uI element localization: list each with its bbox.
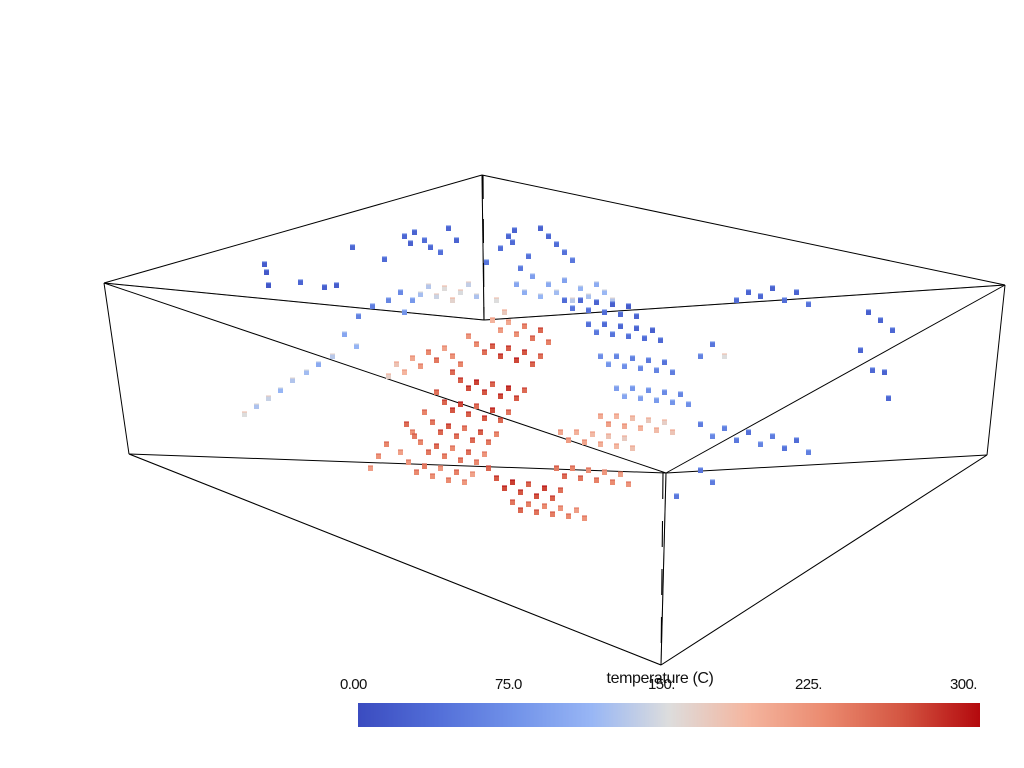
scatter-point [670,370,675,375]
glyph-highlight [606,361,611,363]
glyph-highlight [438,465,443,467]
glyph-highlight [458,377,463,379]
glyph-highlight [498,393,503,395]
glyph-highlight [618,471,623,473]
glyph-highlight [430,419,435,421]
scatter-point [466,412,471,417]
scatter-point [646,418,651,423]
scatter-point [438,430,443,435]
glyph-highlight [462,479,467,481]
scatter-point [562,298,567,303]
glyph-highlight [626,303,631,305]
scatter-point [550,512,555,517]
scatter-point [386,374,391,379]
glyph-highlight [482,451,487,453]
glyph-highlight [522,323,527,325]
glyph-highlight [770,433,775,435]
glyph-highlight [670,369,675,371]
scatter-point [722,354,727,359]
scatter-point [526,502,531,507]
colorbar[interactable] [358,703,980,727]
scatter-point [384,442,389,447]
scatter-point [450,408,455,413]
glyph-highlight [442,345,447,347]
glyph-highlight [634,325,639,327]
scatter-point [334,283,339,288]
scatter-point [458,290,463,295]
glyph-highlight [430,473,435,475]
scatter-point [594,300,599,305]
glyph-highlight [382,256,387,258]
scatter-point [522,350,527,355]
scatter-point [404,422,409,427]
glyph-highlight [586,293,591,295]
glyph-highlight [570,465,575,467]
scatter-point [438,250,443,255]
glyph-highlight [538,327,543,329]
scatter-point [562,250,567,255]
scatter-point [746,290,751,295]
glyph-highlight [386,297,391,299]
colorbar-tick-0: 0.00 [340,676,367,693]
scatter-point [650,328,655,333]
glyph-highlight [662,359,667,361]
scatter-point [490,344,495,349]
glyph-highlight [562,297,567,299]
scatter-point [638,396,643,401]
scatter-point [570,258,575,263]
scatter-point [402,234,407,239]
glyph-highlight [454,469,459,471]
scatter-point [530,336,535,341]
glyph-highlight [506,385,511,387]
glyph-highlight [402,309,407,311]
scatter-point [538,226,543,231]
glyph-highlight [522,289,527,291]
glyph-highlight [502,309,507,311]
scatter-point [470,472,475,477]
scatter-point [622,424,627,429]
glyph-highlight [442,285,447,287]
scatter-point [510,480,515,485]
scatter-point [466,386,471,391]
scatter-point [506,320,511,325]
glyph-highlight [674,493,679,495]
glyph-highlight [554,289,559,291]
scatter-point [446,478,451,483]
glyph-highlight [316,361,321,363]
glyph-highlight [594,299,599,301]
scatter-point [658,338,663,343]
scatter-point [462,480,467,485]
scatter-point [368,466,373,471]
glyph-highlight [422,409,427,411]
glyph-highlight [646,357,651,359]
glyph-highlight [458,289,463,291]
scatter-point [342,332,347,337]
scatter-point [526,482,531,487]
glyph-highlight [710,479,715,481]
scatter-point [402,370,407,375]
scatter-point [490,408,495,413]
scatter-point [498,418,503,423]
scatter-point [474,404,479,409]
glyph-highlight [406,459,411,461]
scatter-point [442,400,447,405]
glyph-highlight [546,233,551,235]
scatter-point [626,334,631,339]
scatter-point [408,241,413,246]
glyph-highlight [562,277,567,279]
glyph-highlight [542,503,547,505]
scatter-point [450,370,455,375]
scatter-point [770,434,775,439]
scatter-point [610,302,615,307]
scatter-point [422,238,427,243]
scatter-point [478,430,483,435]
glyph-highlight [698,467,703,469]
colorbar-tick-1: 75.0 [495,676,522,693]
scatter-point [538,294,543,299]
scatter-point [574,508,579,513]
scatter-point [558,506,563,511]
scatter-point [386,298,391,303]
scatter-point [512,228,517,233]
glyph-highlight [670,399,675,401]
scatter-point [646,388,651,393]
glyph-highlight [806,449,811,451]
glyph-highlight [474,459,479,461]
scatter-point [266,396,271,401]
scatter-point [454,238,459,243]
glyph-highlight [410,355,415,357]
glyph-highlight [782,445,787,447]
scatter-point [890,328,895,333]
scatter-point [606,422,611,427]
scatter-point [410,298,415,303]
scatter-point [662,390,667,395]
glyph-highlight [466,449,471,451]
colorbar-tick-4: 300. [950,676,977,693]
glyph-highlight [538,293,543,295]
scatter-point [554,290,559,295]
glyph-highlight [498,327,503,329]
glyph-highlight [254,403,259,405]
scatter-point [870,368,875,373]
scatter-point [454,434,459,439]
scatter-point [418,440,423,445]
scatter-point [414,470,419,475]
glyph-highlight [466,385,471,387]
scatter-point [886,396,891,401]
scatter-point [882,370,887,375]
scatter-point [806,302,811,307]
glyph-highlight [570,297,575,299]
glyph-highlight [398,449,403,451]
glyph-highlight [546,339,551,341]
scatter-point [426,450,431,455]
glyph-highlight [710,433,715,435]
glyph-highlight [384,441,389,443]
glyph-highlight [498,245,503,247]
glyph-highlight [514,331,519,333]
glyph-highlight [498,353,503,355]
scatter-point [458,362,463,367]
scatter-point [474,342,479,347]
glyph-highlight [266,282,271,284]
scatter-point [422,464,427,469]
glyph-highlight [486,465,491,467]
scatter-point [304,370,309,375]
glyph-highlight [722,353,727,355]
glyph-highlight [710,341,715,343]
glyph-highlight [698,421,703,423]
glyph-highlight [422,237,427,239]
scatter-point [526,254,531,259]
scatter-point [394,362,399,367]
scatter-point [610,332,615,337]
scatter-point [698,354,703,359]
glyph-highlight [482,389,487,391]
glyph-highlight [806,301,811,303]
scatter-point [278,388,283,393]
scatter-point [698,422,703,427]
glyph-highlight [622,363,627,365]
scatter-point [494,298,499,303]
scatter-point [642,336,647,341]
glyph-highlight [858,347,863,349]
glyph-highlight [622,435,627,437]
glyph-highlight [662,419,667,421]
glyph-highlight [646,417,651,419]
scatter-point [582,516,587,521]
scatter-point [514,396,519,401]
glyph-highlight [356,313,361,315]
scatter-point [602,470,607,475]
scatter-point [734,298,739,303]
glyph-highlight [402,369,407,371]
scatter-point [598,442,603,447]
glyph-highlight [562,249,567,251]
scatter-point [634,326,639,331]
scatter-point [622,436,627,441]
scatter-point [398,290,403,295]
glyph-highlight [450,297,455,299]
glyph-highlight [602,309,607,311]
glyph-highlight [538,225,543,227]
glyph-highlight [794,289,799,291]
glyph-highlight [518,265,523,267]
scatter-point [566,438,571,443]
scatter-point [614,386,619,391]
scatter-point [586,294,591,299]
scatter-point [662,420,667,425]
glyph-highlight [618,311,623,313]
glyph-highlight [550,495,555,497]
glyph-highlight [376,453,381,455]
glyph-highlight [490,381,495,383]
glyph-highlight [722,425,727,427]
glyph-highlight [482,415,487,417]
glyph-highlight [550,511,555,513]
glyph-highlight [578,285,583,287]
scatter-point [418,364,423,369]
glyph-highlight [606,433,611,435]
scatter-point [450,298,455,303]
scatter-point [646,358,651,363]
glyph-highlight [626,333,631,335]
scatter-point [494,476,499,481]
glyph-highlight [530,361,535,363]
glyph-highlight [482,349,487,351]
glyph-highlight [498,417,503,419]
scatter-point [670,430,675,435]
scatter-point [430,474,435,479]
scatter-point [510,500,515,505]
glyph-highlight [370,303,375,305]
scatter-point [602,322,607,327]
scatter-point [484,260,489,265]
glyph-highlight [566,437,571,439]
glyph-highlight [586,321,591,323]
glyph-highlight [646,387,651,389]
glyph-highlight [654,427,659,429]
scatter-point [290,378,295,383]
glyph-highlight [630,355,635,357]
glyph-highlight [558,487,563,489]
glyph-highlight [570,305,575,307]
glyph-highlight [614,353,619,355]
scatter-point [398,450,403,455]
glyph-highlight [698,353,703,355]
scatter-point [466,282,471,287]
scatter-point [710,434,715,439]
scatter-point [298,280,303,285]
glyph-highlight [418,363,423,365]
glyph-highlight [734,297,739,299]
glyph-highlight [354,343,359,345]
scatter-point [566,514,571,519]
scatter-point [598,354,603,359]
glyph-highlight [386,373,391,375]
scatter-point [506,386,511,391]
glyph-highlight [410,297,415,299]
scatter-point [630,356,635,361]
glyph-highlight [890,327,895,329]
scatter-point [654,398,659,403]
glyph-highlight [518,489,523,491]
glyph-highlight [454,433,459,435]
glyph-highlight [546,281,551,283]
visualization-canvas[interactable]: temperature (C) 0.00 75.0 150. 225. 300. [0,0,1024,768]
glyph-highlight [526,481,531,483]
glyph-highlight [606,421,611,423]
scatter-point [354,344,359,349]
glyph-highlight [610,331,615,333]
scatter-point [614,444,619,449]
glyph-highlight [402,233,407,235]
glyph-highlight [582,515,587,517]
glyph-highlight [878,317,883,319]
glyph-highlight [538,353,543,355]
glyph-highlight [458,457,463,459]
scatter-point [654,368,659,373]
scatter-point [594,478,599,483]
glyph-highlight [578,475,583,477]
scatter-point [422,410,427,415]
scatter-point [254,404,259,409]
scatter-point [574,430,579,435]
glyph-highlight [434,389,439,391]
scatter-point [794,438,799,443]
scatter-point [518,490,523,495]
scatter-point [618,472,623,477]
glyph-highlight [770,285,775,287]
scatter-point [458,378,463,383]
scatter-point [758,442,763,447]
glyph-highlight [414,469,419,471]
scatter-point [686,402,691,407]
glyph-highlight [506,345,511,347]
scatter-point [878,318,883,323]
scatter-point [698,468,703,473]
glyph-highlight [418,291,423,293]
glyph-highlight [638,365,643,367]
scatter-point [474,294,479,299]
glyph-highlight [610,301,615,303]
scatter-point [618,312,623,317]
scatter-point [506,410,511,415]
scatter-point [806,450,811,455]
scatter-point [634,314,639,319]
scatter-point [538,354,543,359]
glyph-highlight [514,395,519,397]
scatter-point [570,306,575,311]
scatter-point [614,354,619,359]
glyph-highlight [526,253,531,255]
glyph-highlight [428,244,433,246]
glyph-highlight [494,475,499,477]
scatter-point [866,310,871,315]
glyph-highlight [486,439,491,441]
glyph-highlight [242,411,247,413]
glyph-highlight [638,425,643,427]
scatter-point [662,360,667,365]
glyph-highlight [512,227,517,229]
scatter-point [474,380,479,385]
scatter-point [654,428,659,433]
scatter-point [494,432,499,437]
glyph-highlight [746,289,751,291]
glyph-highlight [502,485,507,487]
scatter-point [558,488,563,493]
scatter-point [434,444,439,449]
scatter-point [522,324,527,329]
scatter-point [514,282,519,287]
glyph-highlight [322,284,327,286]
glyph-highlight [630,385,635,387]
glyph-highlight [634,313,639,315]
glyph-highlight [734,437,739,439]
scatter-point [542,504,547,509]
glyph-highlight [474,293,479,295]
glyph-highlight [658,337,663,339]
glyph-highlight [598,413,603,415]
glyph-highlight [510,239,515,241]
glyph-highlight [264,269,269,271]
scatter-point [614,414,619,419]
glyph-highlight [438,429,443,431]
